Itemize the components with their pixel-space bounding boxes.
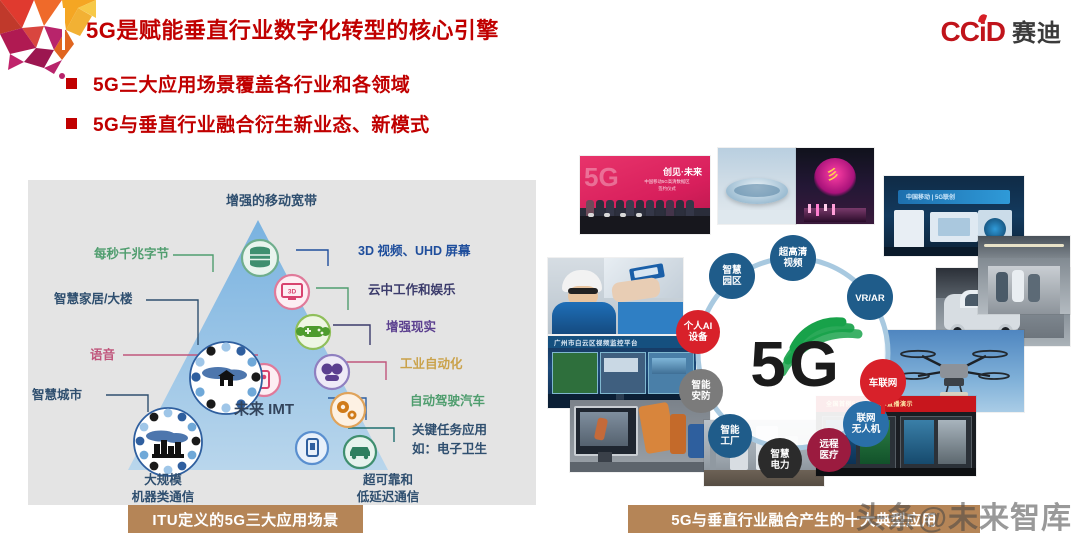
svg-text:G: G <box>789 328 839 400</box>
svg-text:设备: 设备 <box>688 331 708 343</box>
slide-root: 5G是赋能垂直行业数字化转型的核心引擎 CCiD 赛迪 5G三大应用场景覆盖各行… <box>0 0 1080 540</box>
page-title: 5G是赋能垂直行业数字化转型的核心引擎 <box>86 13 499 45</box>
pyramid-label-gbps: 每秒千兆字节 <box>94 243 169 262</box>
ccid-wordmark-text: CCiD <box>941 16 1005 47</box>
pyramid-corner-left-line1: 大规模 <box>118 472 208 489</box>
svg-text:车联网: 车联网 <box>869 377 898 389</box>
pyramid-label-autonomous-car: 自动驾驶汽车 <box>410 390 485 409</box>
ccid-wordmark: CCiD <box>941 18 1005 46</box>
svg-text:无人机: 无人机 <box>851 423 881 435</box>
itu-caption-bar: ITU定义的5G三大应用场景 <box>128 505 363 533</box>
pyramid-corner-right-line2: 低延迟通信 <box>338 489 438 506</box>
pyramid-label-smart-home: 智慧家居/大楼 <box>54 288 132 307</box>
photo-5g-signing-ceremony: 5G 创见·未来 中国移动5G高清数据区签约仪式 <box>580 156 710 234</box>
svg-text:5: 5 <box>750 328 786 400</box>
pyramid-label-ehealth: 如：电子卫生 <box>412 438 487 457</box>
bullet-text: 5G三大应用场景覆盖各行业和各领域 <box>93 70 410 97</box>
pyramid-label-ar: 增强现实 <box>386 316 436 335</box>
photo-worker-ar-glasses <box>548 258 683 334</box>
ring-caption-bar: 5G与垂直行业融合产生的十大典型应用 <box>628 505 980 533</box>
svg-text:远程: 远程 <box>819 438 839 450</box>
pyramid-label-industrial-automation: 工业自动化 <box>400 353 463 372</box>
itu-pyramid-panel: 3D <box>28 180 536 505</box>
svg-text:智慧: 智慧 <box>722 264 742 276</box>
svg-text:3D: 3D <box>288 289 297 296</box>
bullet-text: 5G与垂直行业融合衍生新业态、新模式 <box>93 110 430 137</box>
ccid-name-cn: 赛迪 <box>1012 22 1062 46</box>
ring-diagram: 5 G 超高清视频 <box>668 228 918 478</box>
pyramid-center-label: 未来 IMT <box>234 398 294 419</box>
svg-text:电力: 电力 <box>770 459 789 471</box>
pyramid-corner-right-line1: 超可靠和 <box>338 472 438 489</box>
svg-text:园区: 园区 <box>722 276 742 287</box>
svg-text:VR/AR: VR/AR <box>855 293 885 304</box>
svg-text:智能: 智能 <box>720 424 740 436</box>
bullet-square-icon <box>66 118 77 129</box>
photo-city-night-landmark: 彡 <box>796 148 874 224</box>
svg-text:智能: 智能 <box>691 379 711 391</box>
bullet-list: 5G三大应用场景覆盖各行业和各领域 5G与垂直行业融合衍生新业态、新模式 <box>66 70 430 150</box>
bullet-item: 5G三大应用场景覆盖各行业和各领域 <box>66 70 430 97</box>
bullet-item: 5G与垂直行业融合衍生新业态、新模式 <box>66 110 430 137</box>
ccid-logo: CCiD 赛迪 <box>941 18 1062 46</box>
pyramid-corner-left-line2: 机器类通信 <box>118 489 208 506</box>
svg-text:个人AI: 个人AI <box>683 320 713 332</box>
svg-text:安防: 安防 <box>691 390 711 402</box>
svg-text:超高清: 超高清 <box>778 246 808 258</box>
pyramid-label-voice: 语音 <box>90 344 115 363</box>
pyramid-label-3d-video: 3D 视频、UHD 屏幕 <box>358 240 471 259</box>
pyramid-label-cloud-work: 云中工作和娱乐 <box>368 279 456 298</box>
photo-stadium-aerial <box>718 148 796 224</box>
application-collage-panel: 5G 创见·未来 中国移动5G高清数据区签约仪式 <box>548 148 1070 508</box>
pyramid-corner-right: 超可靠和 低延迟通信 <box>338 472 438 506</box>
pyramid-label-mission-critical: 关键任务应用 <box>412 419 487 438</box>
svg-text:视频: 视频 <box>783 257 803 269</box>
svg-text:智慧: 智慧 <box>770 448 790 460</box>
title-divider <box>62 8 65 50</box>
itu-pyramid-graphic: 3D <box>28 180 536 505</box>
svg-text:联网: 联网 <box>856 412 875 424</box>
pyramid-corner-left: 大规模 机器类通信 <box>118 472 208 506</box>
pyramid-apex-label: 增强的移动宽带 <box>226 190 317 209</box>
pyramid-label-smart-city: 智慧城市 <box>32 384 82 403</box>
svg-text:医疗: 医疗 <box>819 449 839 461</box>
photo-tunnel-inspection <box>978 236 1070 314</box>
bullet-square-icon <box>66 78 77 89</box>
svg-text:工厂: 工厂 <box>720 436 740 447</box>
